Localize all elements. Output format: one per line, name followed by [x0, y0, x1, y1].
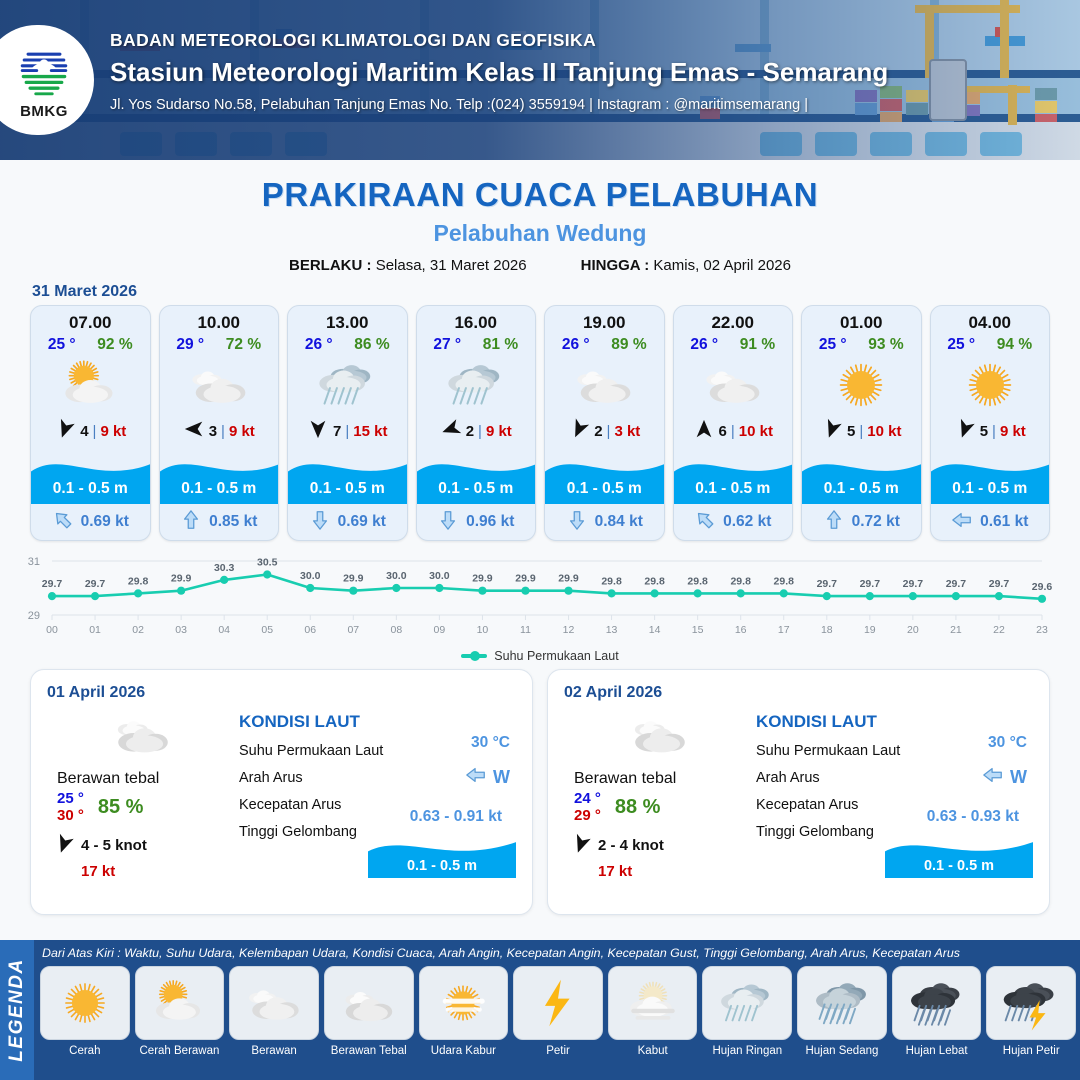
card-wind-row: 5 | 10 kt — [802, 416, 921, 446]
card-current-speed: 0.69 kt — [338, 513, 386, 531]
daily-date: 02 April 2026 — [564, 684, 1033, 702]
svg-text:09: 09 — [434, 624, 446, 636]
card-current-row: 0.84 kt — [545, 504, 664, 540]
svg-text:14: 14 — [649, 624, 661, 636]
valid-from-value: Selasa, 31 Maret 2026 — [376, 257, 527, 274]
legend-item-label: Kabut — [608, 1045, 698, 1057]
card-time: 16.00 — [417, 306, 536, 333]
card-wind-row: 5 | 9 kt — [931, 416, 1050, 446]
card-wind-separator: | — [93, 423, 97, 440]
current-arrow-icon — [982, 764, 1004, 791]
card-time: 19.00 — [545, 306, 664, 333]
sea-current-dir-value: W — [1010, 767, 1027, 788]
forecast-card: 13.00 26 ° 86 % 7 | 15 kt 0.1 — [287, 305, 408, 541]
valid-until-label: HINGGA : — [581, 257, 650, 274]
svg-text:15: 15 — [692, 624, 704, 636]
current-arrow-icon — [566, 509, 588, 536]
svg-text:30.0: 30.0 — [386, 570, 407, 582]
svg-text:29.8: 29.8 — [774, 575, 795, 587]
card-wave-height: 0.1 - 0.5 m — [931, 480, 1050, 498]
svg-text:29.8: 29.8 — [644, 575, 665, 587]
sea-wave-block: 0.1 - 0.5 m — [885, 832, 1033, 878]
chart-legend-label: Suhu Permukaan Laut — [494, 649, 618, 663]
legend-item-label: Petir — [513, 1045, 603, 1057]
forecast-card: 19.00 26 ° 89 % 2 | 3 kt 0.1 - — [544, 305, 665, 541]
card-wave-height: 0.1 - 0.5 m — [31, 480, 150, 498]
bmkg-logo-text: BMKG — [20, 103, 68, 120]
svg-text:01: 01 — [89, 624, 101, 636]
svg-text:04: 04 — [218, 624, 230, 636]
legend-item: Cerah — [40, 966, 130, 1057]
card-current-speed: 0.72 kt — [852, 513, 900, 531]
forecast-card: 22.00 26 ° 91 % 6 | 10 kt 0.1 — [673, 305, 794, 541]
wind-arrow-icon — [954, 418, 976, 444]
sea-current-speed-value: 0.63 - 0.91 kt — [410, 808, 502, 826]
card-current-row: 0.72 kt — [802, 504, 921, 540]
validity-row: BERLAKU : Selasa, 31 Maret 2026 HINGGA :… — [0, 257, 1080, 274]
legend-item: Udara Kabur — [419, 966, 509, 1057]
card-temperature: 25 ° — [947, 336, 975, 354]
card-temp-humidity: 26 ° 89 % — [545, 333, 664, 354]
bmkg-logo-mark — [13, 41, 75, 103]
legend-item: Petir — [513, 966, 603, 1057]
svg-text:29.9: 29.9 — [515, 573, 536, 585]
legend-icon-berawan — [229, 966, 319, 1040]
wind-arrow-icon — [568, 418, 590, 444]
legend-footer: LEGENDA Dari Atas Kiri : Waktu, Suhu Uda… — [0, 940, 1080, 1080]
svg-text:07: 07 — [347, 624, 359, 636]
svg-text:29: 29 — [28, 610, 40, 622]
daily-panel-row: 01 April 2026 Berawan tebal 25 ° 30 ° — [0, 663, 1080, 915]
sea-wave-height: 0.1 - 0.5 m — [885, 858, 1033, 874]
daily-wind-row: 4 - 5 knot — [47, 833, 239, 859]
card-time: 07.00 — [31, 306, 150, 333]
legend-icon-petir — [513, 966, 603, 1040]
card-current-speed: 0.62 kt — [723, 513, 771, 531]
legend-item-label: Cerah — [40, 1045, 130, 1057]
card-wave-block: 0.1 - 0.5 m — [31, 448, 150, 504]
svg-text:13: 13 — [606, 624, 618, 636]
card-wind-row: 6 | 10 kt — [674, 416, 793, 446]
forecast-card: 01.00 25 ° 93 % 5 | 10 kt 0.1 - 0.5 m 0.… — [801, 305, 922, 541]
card-temperature: 25 ° — [819, 336, 847, 354]
agency-name: BADAN METEOROLOGI KLIMATOLOGI DAN GEOFIS… — [110, 30, 888, 51]
daily-condition: Berawan tebal — [47, 770, 239, 788]
card-current-row: 0.96 kt — [417, 504, 536, 540]
daily-temp-row: 24 ° 29 ° 88 % — [564, 790, 756, 825]
card-time: 13.00 — [288, 306, 407, 333]
svg-text:30.3: 30.3 — [214, 562, 235, 574]
legend-note: Dari Atas Kiri : Waktu, Suhu Udara, Kele… — [42, 946, 1074, 960]
svg-text:17: 17 — [778, 624, 790, 636]
svg-text:08: 08 — [391, 624, 403, 636]
card-current-speed: 0.84 kt — [595, 513, 643, 531]
daily-weather-icon-berawan-tebal — [47, 706, 239, 760]
valid-until-value: Kamis, 02 April 2026 — [653, 257, 791, 274]
card-wind-separator: | — [607, 423, 611, 440]
current-arrow-icon — [951, 509, 973, 536]
card-wind-speed: 2 — [594, 423, 602, 440]
card-wave-block: 0.1 - 0.5 m — [931, 448, 1050, 504]
card-temp-humidity: 29 ° 72 % — [160, 333, 279, 354]
legend-item: Hujan Sedang — [797, 966, 887, 1057]
sea-sst-value: 30 °C — [471, 734, 510, 752]
card-temp-humidity: 25 ° 92 % — [31, 333, 150, 354]
svg-text:29.7: 29.7 — [85, 578, 106, 590]
card-current-row: 0.69 kt — [31, 504, 150, 540]
sea-current-dir-value: W — [493, 767, 510, 788]
card-time: 01.00 — [802, 306, 921, 333]
card-gust-speed: 10 kt — [739, 423, 773, 440]
card-wave-block: 0.1 - 0.5 m — [802, 448, 921, 504]
daily-temp-max: 30 ° — [57, 807, 84, 824]
daily-left: Berawan tebal 24 ° 29 ° 88 % 2 - 4 knot … — [564, 702, 756, 880]
port-name: Pelabuhan Wedung — [0, 220, 1080, 247]
svg-text:29.8: 29.8 — [730, 575, 751, 587]
sea-conditions-title: KONDISI LAUT — [239, 712, 516, 732]
legend-item-label: Cerah Berawan — [135, 1045, 225, 1057]
card-current-speed: 0.69 kt — [81, 513, 129, 531]
card-wave-block: 0.1 - 0.5 m — [160, 448, 279, 504]
card-current-speed: 0.96 kt — [466, 513, 514, 531]
card-gust-speed: 9 kt — [229, 423, 255, 440]
daily-temp-min: 24 ° — [574, 790, 601, 807]
card-humidity: 94 % — [997, 336, 1032, 354]
page-header: BMKG BADAN METEOROLOGI KLIMATOLOGI DAN G… — [0, 0, 1080, 160]
daily-sea-conditions: KONDISI LAUT Suhu Permukaan Laut 30 °C A… — [756, 702, 1033, 880]
daily-humidity: 88 % — [615, 796, 661, 819]
sea-current-dir: W — [982, 764, 1027, 791]
card-humidity: 72 % — [226, 336, 261, 354]
svg-text:20: 20 — [907, 624, 919, 636]
legend-item-label: Hujan Ringan — [702, 1045, 792, 1057]
wind-arrow-icon — [54, 418, 76, 444]
daily-body: Berawan tebal 24 ° 29 ° 88 % 2 - 4 knot … — [564, 702, 1033, 880]
card-humidity: 81 % — [483, 336, 518, 354]
legend-item-label: Hujan Lebat — [892, 1045, 982, 1057]
current-arrow-icon — [437, 509, 459, 536]
card-wind-separator: | — [992, 423, 996, 440]
current-arrow-icon — [694, 509, 716, 536]
card-wave-block: 0.1 - 0.5 m — [417, 448, 536, 504]
card-wind-separator: | — [859, 423, 863, 440]
card-weather-icon-hujan-ringan — [288, 354, 407, 416]
wind-arrow-icon — [53, 833, 75, 859]
valid-from: BERLAKU : Selasa, 31 Maret 2026 — [289, 257, 527, 274]
card-wave-block: 0.1 - 0.5 m — [674, 448, 793, 504]
card-current-row: 0.61 kt — [931, 504, 1050, 540]
card-wave-height: 0.1 - 0.5 m — [160, 480, 279, 498]
svg-text:31: 31 — [28, 556, 40, 568]
card-gust-speed: 9 kt — [100, 423, 126, 440]
legend-item-row: Cerah Cerah Berawan Berawan — [40, 966, 1076, 1057]
svg-text:29.8: 29.8 — [601, 575, 622, 587]
svg-text:29.7: 29.7 — [903, 578, 924, 590]
chart-legend-swatch — [461, 654, 487, 658]
sea-wave-block: 0.1 - 0.5 m — [368, 832, 516, 878]
svg-text:29.7: 29.7 — [860, 578, 881, 590]
wind-arrow-icon — [307, 418, 329, 444]
header-text-block: BADAN METEOROLOGI KLIMATOLOGI DAN GEOFIS… — [110, 30, 888, 113]
daily-temp-max: 29 ° — [574, 807, 601, 824]
card-weather-icon-berawan — [545, 354, 664, 416]
daily-temp-row: 25 ° 30 ° 85 % — [47, 790, 239, 825]
card-wind-speed: 6 — [719, 423, 727, 440]
sst-chart-svg: 293129.70029.70129.80229.90330.30430.505… — [0, 547, 1080, 642]
svg-text:29.6: 29.6 — [1032, 581, 1053, 593]
card-wind-row: 2 | 3 kt — [545, 416, 664, 446]
card-time: 10.00 — [160, 306, 279, 333]
card-temp-humidity: 25 ° 93 % — [802, 333, 921, 354]
card-wind-separator: | — [478, 423, 482, 440]
svg-text:29.7: 29.7 — [817, 578, 838, 590]
card-current-speed: 0.85 kt — [209, 513, 257, 531]
card-wind-separator: | — [731, 423, 735, 440]
forecast-card-row: 07.00 25 ° 92 % 4 | 9 kt 0.1 - 0.5 m — [0, 305, 1080, 541]
sst-chart: 293129.70029.70129.80229.90330.30430.505… — [0, 541, 1080, 663]
card-current-row: 0.85 kt — [160, 504, 279, 540]
svg-text:29.8: 29.8 — [687, 575, 708, 587]
card-wave-height: 0.1 - 0.5 m — [288, 480, 407, 498]
sea-wave-height: 0.1 - 0.5 m — [368, 858, 516, 874]
svg-text:23: 23 — [1036, 624, 1048, 636]
svg-text:30.0: 30.0 — [300, 570, 321, 582]
daily-forecast-panel: 02 April 2026 Berawan tebal 24 ° 29 ° — [547, 669, 1050, 915]
valid-until: HINGGA : Kamis, 02 April 2026 — [581, 257, 791, 274]
card-weather-icon-cerah-berawan — [31, 354, 150, 416]
svg-text:00: 00 — [46, 624, 58, 636]
card-weather-icon-berawan — [674, 354, 793, 416]
station-address: Jl. Yos Sudarso No.58, Pelabuhan Tanjung… — [110, 97, 888, 113]
legend-icon-berawan-tebal — [324, 966, 414, 1040]
sea-conditions-title: KONDISI LAUT — [756, 712, 1033, 732]
card-humidity: 91 % — [740, 336, 775, 354]
legend-icon-udara-kabur — [419, 966, 509, 1040]
card-gust-speed: 9 kt — [486, 423, 512, 440]
card-wind-speed: 3 — [209, 423, 217, 440]
card-wave-height: 0.1 - 0.5 m — [545, 480, 664, 498]
legend-item-label: Udara Kabur — [419, 1045, 509, 1057]
page-title: PRAKIRAAN CUACA PELABUHAN — [0, 176, 1080, 214]
card-wind-row: 4 | 9 kt — [31, 416, 150, 446]
current-arrow-icon — [52, 509, 74, 536]
svg-text:29.8: 29.8 — [128, 575, 149, 587]
daily-gust: 17 kt — [564, 863, 756, 880]
svg-text:29.9: 29.9 — [343, 573, 364, 585]
svg-text:18: 18 — [821, 624, 833, 636]
card-humidity: 92 % — [97, 336, 132, 354]
card-temperature: 26 ° — [562, 336, 590, 354]
card-wind-speed: 5 — [847, 423, 855, 440]
valid-from-label: BERLAKU : — [289, 257, 372, 274]
wind-arrow-icon — [183, 418, 205, 444]
card-wind-separator: | — [221, 423, 225, 440]
card-wind-row: 7 | 15 kt — [288, 416, 407, 446]
svg-text:05: 05 — [261, 624, 273, 636]
card-wind-speed: 5 — [980, 423, 988, 440]
card-wind-speed: 2 — [466, 423, 474, 440]
card-gust-speed: 3 kt — [614, 423, 640, 440]
legend-item: Berawan — [229, 966, 319, 1057]
card-current-speed: 0.61 kt — [980, 513, 1028, 531]
daily-wind-range: 4 - 5 knot — [81, 837, 147, 854]
legend-icon-cerah-berawan — [135, 966, 225, 1040]
card-wave-block: 0.1 - 0.5 m — [545, 448, 664, 504]
sea-current-dir: W — [465, 764, 510, 791]
card-weather-icon-cerah — [802, 354, 921, 416]
legend-sidebar: LEGENDA — [0, 940, 34, 1080]
card-temperature: 27 ° — [433, 336, 461, 354]
daily-wind-row: 2 - 4 knot — [564, 833, 756, 859]
title-block: PRAKIRAAN CUACA PELABUHAN Pelabuhan Wedu… — [0, 160, 1080, 274]
chart-legend: Suhu Permukaan Laut — [0, 649, 1080, 663]
svg-text:29.9: 29.9 — [558, 573, 579, 585]
daily-temp-col: 25 ° 30 ° — [57, 790, 84, 825]
svg-text:10: 10 — [477, 624, 489, 636]
legend-item: Hujan Petir — [986, 966, 1076, 1057]
current-arrow-icon — [309, 509, 331, 536]
daily-temp-min: 25 ° — [57, 790, 84, 807]
forecast-card: 10.00 29 ° 72 % 3 | 9 kt 0.1 - — [159, 305, 280, 541]
legend-sidebar-label: LEGENDA — [6, 958, 28, 1061]
daily-forecast-panel: 01 April 2026 Berawan tebal 25 ° 30 ° — [30, 669, 533, 915]
svg-text:22: 22 — [993, 624, 1005, 636]
daily-left: Berawan tebal 25 ° 30 ° 85 % 4 - 5 knot … — [47, 702, 239, 880]
card-temp-humidity: 26 ° 86 % — [288, 333, 407, 354]
wind-arrow-icon — [821, 418, 843, 444]
legend-icon-hujan-ringan — [702, 966, 792, 1040]
card-temperature: 25 ° — [48, 336, 76, 354]
forecast-card: 07.00 25 ° 92 % 4 | 9 kt 0.1 - 0.5 m — [30, 305, 151, 541]
card-wind-row: 3 | 9 kt — [160, 416, 279, 446]
card-current-row: 0.62 kt — [674, 504, 793, 540]
svg-text:21: 21 — [950, 624, 962, 636]
svg-text:29.7: 29.7 — [946, 578, 967, 590]
legend-item: Berawan Tebal — [324, 966, 414, 1057]
legend-item-label: Hujan Petir — [986, 1045, 1076, 1057]
sea-current-speed-value: 0.63 - 0.93 kt — [927, 808, 1019, 826]
daily-humidity: 85 % — [98, 796, 144, 819]
daily-sea-conditions: KONDISI LAUT Suhu Permukaan Laut 30 °C A… — [239, 702, 516, 880]
card-humidity: 93 % — [868, 336, 903, 354]
svg-text:30.0: 30.0 — [429, 570, 450, 582]
daily-body: Berawan tebal 25 ° 30 ° 85 % 4 - 5 knot … — [47, 702, 516, 880]
svg-text:29.9: 29.9 — [472, 573, 493, 585]
svg-text:16: 16 — [735, 624, 747, 636]
legend-item-label: Hujan Sedang — [797, 1045, 887, 1057]
legend-icon-cerah — [40, 966, 130, 1040]
legend-icon-hujan-lebat — [892, 966, 982, 1040]
svg-text:11: 11 — [520, 624, 531, 636]
wind-arrow-icon — [693, 418, 715, 444]
legend-icon-hujan-sedang — [797, 966, 887, 1040]
card-gust-speed: 9 kt — [1000, 423, 1026, 440]
card-temp-humidity: 26 ° 91 % — [674, 333, 793, 354]
card-wave-height: 0.1 - 0.5 m — [674, 480, 793, 498]
card-gust-speed: 10 kt — [867, 423, 901, 440]
card-temperature: 29 ° — [176, 336, 204, 354]
card-temperature: 26 ° — [690, 336, 718, 354]
daily-temp-col: 24 ° 29 ° — [574, 790, 601, 825]
wind-arrow-icon — [570, 833, 592, 859]
legend-icon-hujan-petir — [986, 966, 1076, 1040]
card-weather-icon-hujan-ringan — [417, 354, 536, 416]
legend-item: Cerah Berawan — [135, 966, 225, 1057]
card-wind-row: 2 | 9 kt — [417, 416, 536, 446]
card-time: 04.00 — [931, 306, 1050, 333]
svg-text:29.9: 29.9 — [171, 573, 192, 585]
daily-weather-icon-berawan-tebal — [564, 706, 756, 760]
legend-item-label: Berawan Tebal — [324, 1045, 414, 1057]
card-wave-block: 0.1 - 0.5 m — [288, 448, 407, 504]
daily-gust: 17 kt — [47, 863, 239, 880]
card-temp-humidity: 27 ° 81 % — [417, 333, 536, 354]
svg-text:03: 03 — [175, 624, 187, 636]
card-temperature: 26 ° — [305, 336, 333, 354]
current-arrow-icon — [823, 509, 845, 536]
card-wind-speed: 7 — [333, 423, 341, 440]
card-temp-humidity: 25 ° 94 % — [931, 333, 1050, 354]
svg-text:12: 12 — [563, 624, 575, 636]
daily-condition: Berawan tebal — [564, 770, 756, 788]
daily-date: 01 April 2026 — [47, 684, 516, 702]
legend-item: Kabut — [608, 966, 698, 1057]
legend-item: Hujan Lebat — [892, 966, 982, 1057]
card-time: 22.00 — [674, 306, 793, 333]
card-wind-separator: | — [345, 423, 349, 440]
svg-text:19: 19 — [864, 624, 876, 636]
legend-icon-kabut — [608, 966, 698, 1040]
card-wave-height: 0.1 - 0.5 m — [417, 480, 536, 498]
card-humidity: 89 % — [611, 336, 646, 354]
forecast-day-label: 31 Maret 2026 — [32, 283, 1080, 301]
card-wind-speed: 4 — [80, 423, 88, 440]
forecast-card: 04.00 25 ° 94 % 5 | 9 kt 0.1 - 0.5 m 0.6… — [930, 305, 1051, 541]
forecast-card: 16.00 27 ° 81 % 2 | 9 kt 0.1 - — [416, 305, 537, 541]
card-gust-speed: 15 kt — [353, 423, 387, 440]
card-wave-height: 0.1 - 0.5 m — [802, 480, 921, 498]
legend-item: Hujan Ringan — [702, 966, 792, 1057]
card-current-row: 0.69 kt — [288, 504, 407, 540]
svg-text:06: 06 — [304, 624, 316, 636]
card-weather-icon-berawan — [160, 354, 279, 416]
station-name: Stasiun Meteorologi Maritim Kelas II Tan… — [110, 57, 888, 88]
legend-item-label: Berawan — [229, 1045, 319, 1057]
card-humidity: 86 % — [354, 336, 389, 354]
svg-text:29.7: 29.7 — [42, 578, 63, 590]
svg-text:02: 02 — [132, 624, 144, 636]
wind-arrow-icon — [440, 418, 462, 444]
sea-sst-value: 30 °C — [988, 734, 1027, 752]
daily-wind-range: 2 - 4 knot — [598, 837, 664, 854]
svg-text:29.7: 29.7 — [989, 578, 1010, 590]
card-weather-icon-cerah — [931, 354, 1050, 416]
current-arrow-icon — [465, 764, 487, 791]
svg-text:30.5: 30.5 — [257, 557, 278, 569]
current-arrow-icon — [180, 509, 202, 536]
